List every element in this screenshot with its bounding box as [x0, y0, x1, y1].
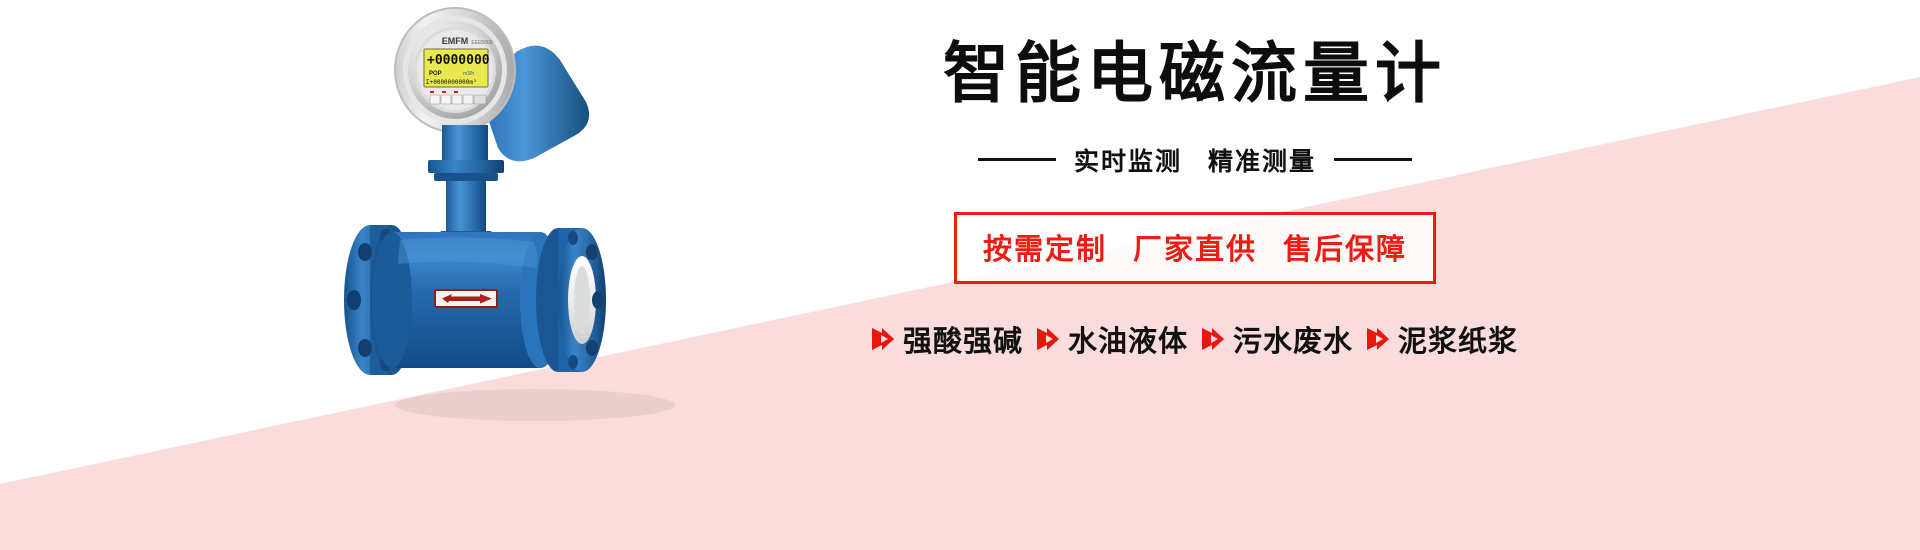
arrow-right-icon — [1202, 328, 1224, 350]
lcd-label-left: POP — [429, 71, 442, 77]
promo-item-2: 厂家直供 — [1133, 234, 1257, 266]
feature-label: 水油液体 — [1068, 318, 1188, 360]
feature-item: 水油液体 — [1037, 318, 1188, 360]
feature-item: 泥浆纸浆 — [1367, 318, 1518, 360]
head-brand-label: EMFM — [442, 36, 469, 46]
subtitle-text: 实时监测精准测量 — [1074, 142, 1316, 178]
feature-label: 泥浆纸浆 — [1398, 318, 1518, 360]
feature-item: 强酸强碱 — [872, 318, 1023, 360]
lcd-main-value: +0000000 — [427, 53, 490, 68]
subtitle-text-a: 实时监测 — [1074, 148, 1182, 176]
banner-text-block: 智能电磁流量计 实时监测精准测量 按需定制厂家直供售后保障 强酸强碱 水油液体 — [830, 36, 1560, 360]
subtitle-text-b: 精准测量 — [1208, 148, 1316, 176]
subtitle-right-rule — [1334, 158, 1412, 161]
lcd-secondary-value: Σ+0000000000m³ — [426, 79, 477, 86]
promo-box: 按需定制厂家直供售后保障 — [954, 212, 1436, 284]
transmitter-head: EMFM EEE5000 +0000000 POP m3/h Σ+0000000… — [395, 8, 589, 161]
promo-item-1: 按需定制 — [983, 234, 1107, 266]
subtitle-left-rule — [978, 158, 1056, 161]
arrow-right-icon — [1367, 328, 1389, 350]
meter-body — [344, 225, 606, 375]
lcd-label-right: m3/h — [463, 71, 474, 77]
keypad — [430, 95, 486, 104]
feature-item: 污水废水 — [1202, 318, 1353, 360]
arrow-right-icon — [1037, 328, 1059, 350]
flow-meter-illustration: EMFM EEE5000 +0000000 POP m3/h Σ+0000000… — [330, 0, 750, 470]
promo-text: 按需定制厂家直供售后保障 — [983, 226, 1407, 268]
flow-direction-plate — [435, 290, 497, 307]
page-title: 智能电磁流量计 — [830, 36, 1560, 112]
head-model-label: EEE5000 — [471, 40, 492, 46]
meter-neck — [428, 125, 504, 243]
neck-flange — [428, 160, 504, 173]
product-banner: EMFM EEE5000 +0000000 POP m3/h Σ+0000000… — [0, 0, 1920, 550]
subtitle-row: 实时监测精准测量 — [830, 142, 1560, 178]
arrow-right-icon — [872, 328, 894, 350]
feature-label: 强酸强碱 — [903, 318, 1023, 360]
feature-list: 强酸强碱 水油液体 污水废水 泥浆纸浆 — [830, 318, 1560, 360]
promo-item-3: 售后保障 — [1283, 234, 1407, 266]
feature-label: 污水废水 — [1233, 318, 1353, 360]
